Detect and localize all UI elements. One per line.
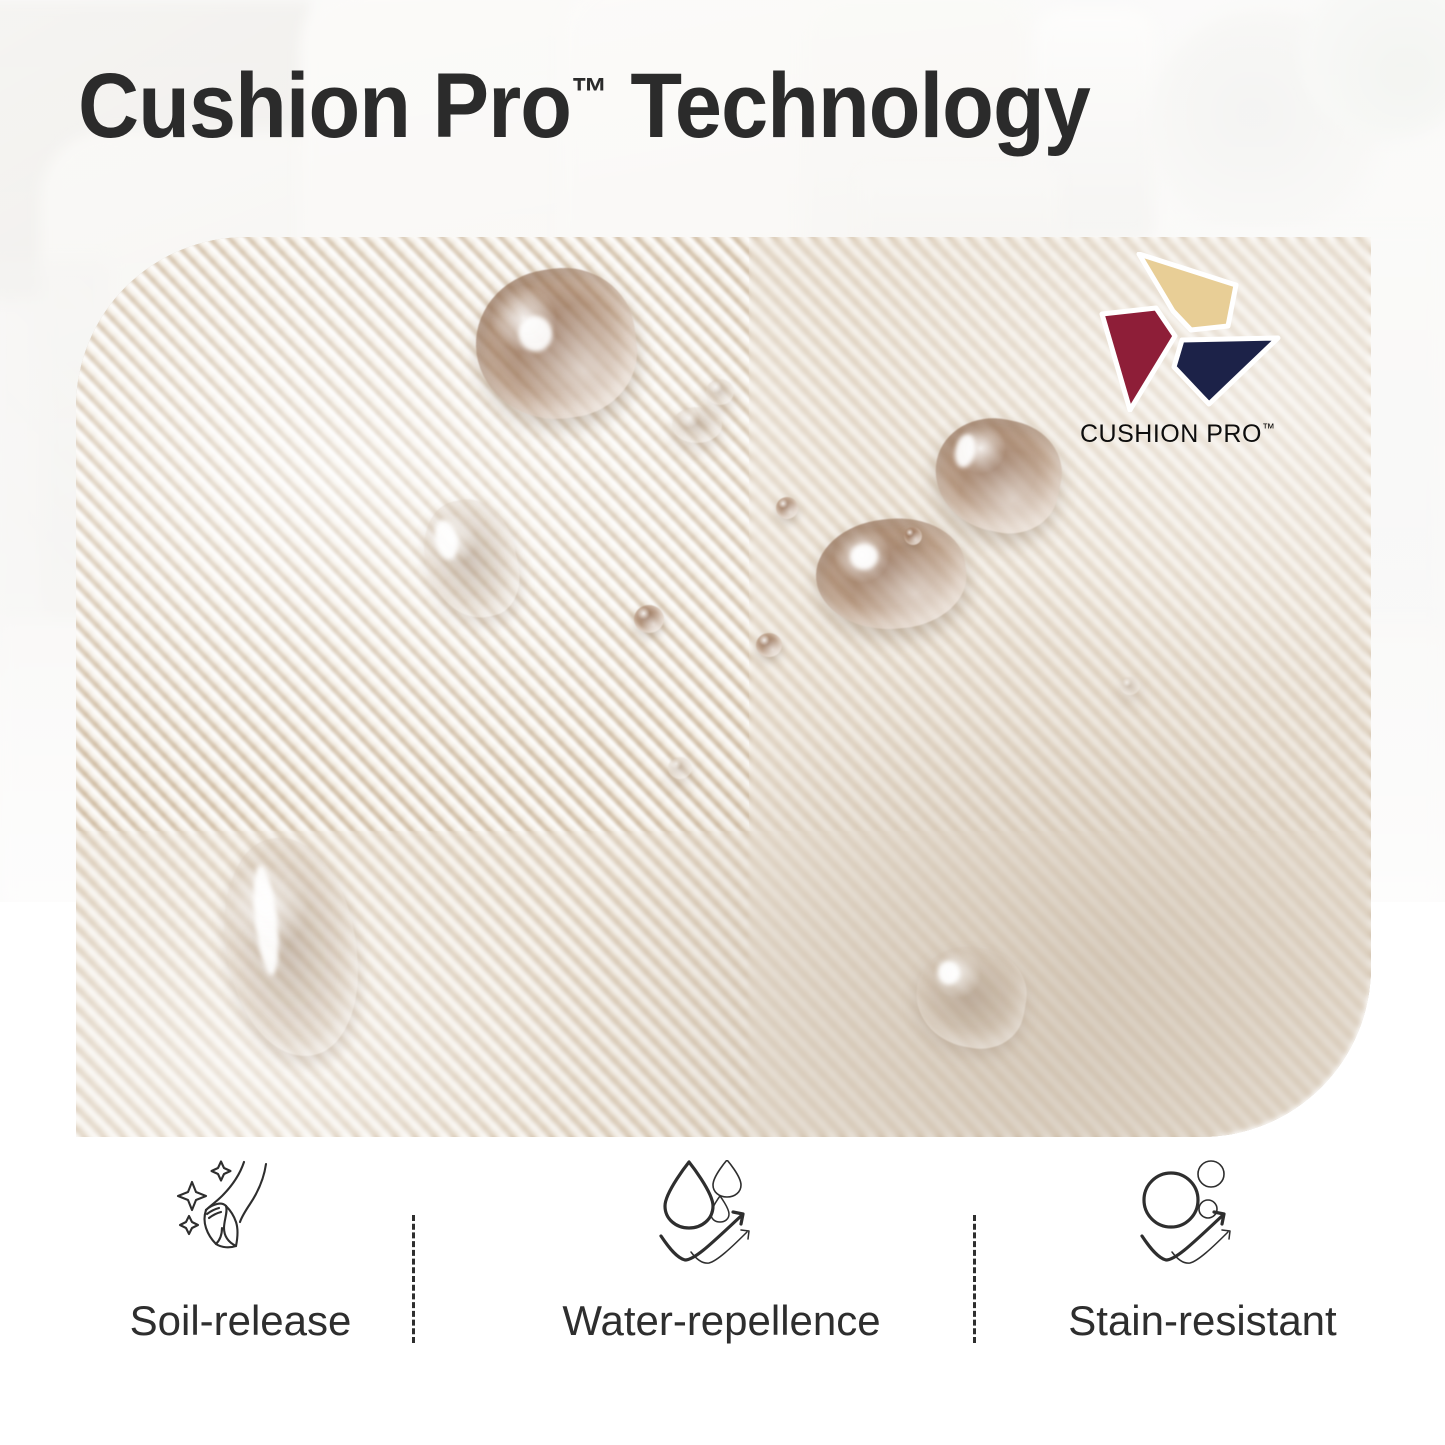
water-droplet-deflect-icon <box>647 1160 797 1275</box>
feature-label: Soil-release <box>130 1297 352 1345</box>
feature-soil-release[interactable]: Soil-release <box>0 1160 481 1345</box>
droplet-highlight <box>249 865 282 977</box>
background-palm-shape <box>1300 0 1445 140</box>
cushion-pro-logo-mark <box>1078 252 1293 412</box>
water-droplet-small <box>634 605 664 633</box>
droplet-highlight <box>849 542 880 571</box>
water-droplet-small <box>706 379 734 405</box>
feature-label: Water-repellence <box>562 1297 880 1345</box>
water-droplet-small <box>668 757 692 779</box>
trademark-symbol: ™ <box>571 70 608 114</box>
feature-stain-resistant[interactable]: Stain-resistant <box>962 1160 1443 1345</box>
brand-logo: CUSHION PRO™ <box>1078 252 1338 467</box>
crimson-kite-shard <box>1102 308 1175 410</box>
product-feature-banner: Cushion Pro™ Technology <box>0 0 1445 1445</box>
feature-divider-1 <box>412 1215 415 1343</box>
hand-wiping-cloth-sparkle-icon <box>166 1160 316 1275</box>
water-droplet-small <box>904 527 922 545</box>
water-droplet-small <box>672 407 722 443</box>
water-droplet-small <box>1120 677 1140 695</box>
page-title-suffix: Technology <box>608 55 1090 157</box>
droplet-highlight <box>952 432 979 469</box>
droplet-highlight <box>432 518 462 562</box>
page-title: Cushion Pro™ Technology <box>78 58 1090 155</box>
feature-water-repellence[interactable]: Water-repellence <box>481 1160 962 1345</box>
hero-fabric-image: CUSHION PRO™ <box>76 237 1371 1137</box>
feature-label: Stain-resistant <box>1068 1297 1336 1345</box>
feature-divider-2 <box>973 1215 976 1343</box>
logo-wordmark: CUSHION PRO™ <box>1080 420 1275 449</box>
logo-trademark-symbol: ™ <box>1262 421 1276 436</box>
droplet-highlight <box>936 959 962 986</box>
feature-strip: Soil-release Water-repellence <box>0 1160 1445 1390</box>
droplet-highlight <box>516 314 555 354</box>
page-title-main: Cushion Pro <box>78 55 571 157</box>
water-droplet-small <box>756 633 782 657</box>
water-droplet-small <box>776 497 798 519</box>
logo-wordmark-text: CUSHION PRO <box>1080 420 1262 448</box>
background-plant-shape <box>1150 10 1380 240</box>
stain-circles-deflect-icon <box>1128 1160 1278 1275</box>
navy-triangle-shard <box>1174 338 1278 404</box>
